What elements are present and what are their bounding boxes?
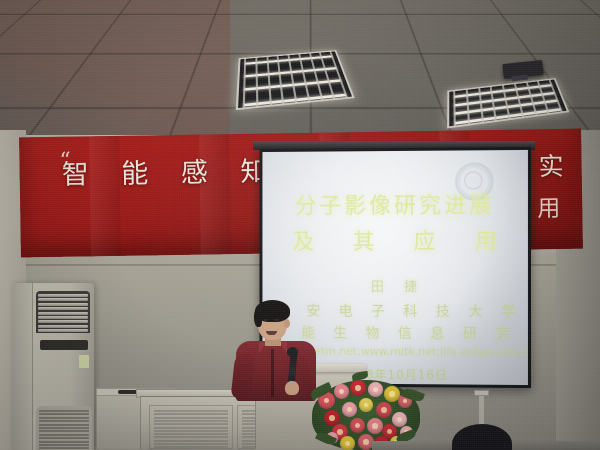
cabinet-louver: [154, 413, 228, 415]
flower-bloom: [350, 418, 365, 433]
air-conditioner-slat: [38, 325, 88, 328]
air-conditioner-intake-grille: [36, 291, 90, 333]
slide-title-line-1: 分子影像研究进展: [262, 187, 528, 220]
air-conditioner-base-slat: [39, 437, 89, 439]
air-conditioner-slat: [38, 329, 88, 332]
cabinet-louver: [154, 446, 228, 448]
cabinet-louver: [154, 440, 228, 442]
cabinet-louver: [154, 433, 228, 435]
floor-standing-air-conditioner: [12, 283, 94, 450]
microphone-head-icon: [287, 347, 298, 357]
air-conditioner-base-slat: [39, 424, 89, 426]
banner-text-left: 智 能 感 知: [61, 149, 279, 191]
flower-bloom: [376, 402, 392, 418]
air-conditioner-base-slat: [39, 427, 89, 429]
flower-bloom: [359, 398, 373, 412]
ceiling-grid-line: [0, 0, 11, 142]
cabinet-door-left: [149, 405, 233, 449]
air-conditioner-slat: [38, 307, 88, 310]
presenter-eye-left: [263, 319, 268, 321]
wall-mount-bracket: [479, 395, 484, 425]
cabinet-louver: [154, 443, 228, 445]
presenter-shirt-placket: [271, 349, 274, 397]
presenter: [232, 295, 324, 400]
cabinet-louver: [154, 427, 228, 429]
air-conditioner-base-slat: [39, 447, 89, 449]
air-conditioner-base-slat: [39, 434, 89, 436]
cabinet-louver: [154, 436, 228, 438]
light-louver: [266, 57, 271, 105]
air-conditioner-outlet-vent: [40, 340, 88, 350]
light-louver: [298, 54, 310, 101]
light-louver: [243, 59, 246, 108]
lecture-hall-photo: “ 智 能 感 知 部 重 点 实 用 分子影像研究进展 及 其 应 用 田 捷…: [0, 0, 600, 450]
air-conditioner-base-slat: [39, 413, 89, 415]
air-conditioner-slat: [38, 316, 88, 319]
presenter-hand: [285, 381, 299, 395]
flower-bloom: [334, 384, 349, 399]
air-conditioner-slat: [38, 303, 88, 306]
presenter-ear: [284, 319, 290, 328]
flower-bouquet: [312, 366, 420, 450]
cabinet-louver: [154, 423, 228, 425]
presenter-eye-right: [274, 319, 279, 321]
air-conditioner-base-grille: [36, 406, 92, 450]
flower-bloom: [350, 380, 366, 396]
air-conditioner-base-slat: [39, 441, 89, 443]
presenter-hair-side: [254, 309, 262, 327]
air-conditioner-slat: [38, 298, 88, 301]
slide-title-line-2: 及 其 应 用: [262, 224, 528, 256]
ceiling-grid-line: [0, 14, 600, 15]
ceiling-grid-line: [0, 0, 161, 142]
slide-author: 田 捷: [262, 276, 528, 295]
air-conditioner-slat: [38, 294, 88, 297]
flower-bloom: [367, 418, 383, 434]
banner-text-right-second-line: 用: [537, 189, 569, 223]
air-conditioner-base-slat: [39, 417, 89, 419]
air-conditioner-side-panel: [12, 283, 33, 450]
air-conditioner-slat: [38, 312, 88, 315]
ceiling-grid-line: [0, 0, 86, 142]
air-conditioner-base-slat: [39, 420, 89, 422]
flower-bloom: [368, 382, 383, 397]
air-conditioner-slat: [38, 320, 88, 323]
cabinet-louver: [154, 417, 228, 419]
air-conditioner-base-slat: [39, 430, 89, 432]
light-louver: [255, 58, 258, 106]
cabinet-louver: [154, 420, 228, 422]
air-conditioner-base-slat: [39, 444, 89, 446]
flower-bloom: [342, 402, 357, 417]
light-louver: [288, 55, 298, 102]
flower-bloom: [340, 436, 355, 450]
cabinet-louver: [154, 430, 228, 432]
ceiling-grid-line: [0, 0, 236, 142]
light-louver: [277, 56, 285, 103]
cabinet-louver: [154, 410, 228, 412]
air-conditioner-base-slat: [39, 410, 89, 412]
air-conditioner-label: [79, 355, 89, 368]
